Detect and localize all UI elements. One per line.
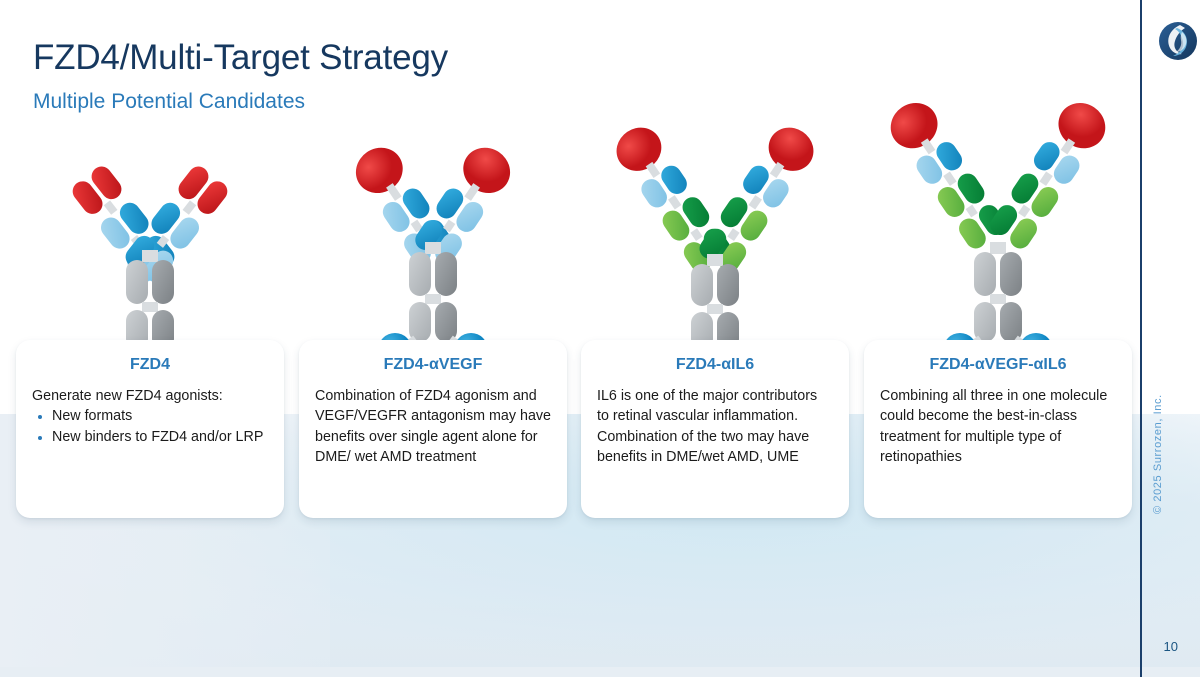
candidate-card-row: FZD4 Generate new FZD4 agonists: New for… bbox=[0, 340, 1140, 520]
background-bottom-edge bbox=[0, 667, 1200, 677]
card-paragraph: IL6 is one of the major contributors to … bbox=[597, 386, 833, 467]
card-title: FZD4-αIL6 bbox=[597, 356, 833, 374]
antibody-fzd4-ail6-figure bbox=[581, 100, 849, 350]
antibody-fzd4-avegf-ail6-figure bbox=[864, 100, 1132, 350]
card-body: Combination of FZD4 agonism and VEGF/VEG… bbox=[315, 386, 551, 467]
list-item: New formats bbox=[32, 406, 268, 427]
antibody-fzd4-avegf-figure bbox=[299, 100, 567, 350]
page-number: 10 bbox=[1164, 639, 1178, 654]
page-title: FZD4/Multi-Target Strategy bbox=[33, 38, 448, 78]
card-paragraph: Combining all three in one molecule coul… bbox=[880, 386, 1116, 467]
card-body: Combining all three in one molecule coul… bbox=[880, 386, 1116, 467]
list-item: New binders to FZD4 and/or LRP bbox=[32, 427, 268, 448]
antibody-fzd4-figure bbox=[16, 100, 284, 350]
card-paragraph: Combination of FZD4 agonism and VEGF/VEG… bbox=[315, 386, 551, 467]
copyright-text: © 2025 Surrozen, Inc. bbox=[1152, 354, 1164, 514]
card-fzd4-ail6[interactable]: FZD4-αIL6 IL6 is one of the major contri… bbox=[581, 340, 849, 518]
card-title: FZD4-αVEGF-αIL6 bbox=[880, 356, 1116, 374]
card-fzd4[interactable]: FZD4 Generate new FZD4 agonists: New for… bbox=[16, 340, 284, 518]
card-fzd4-avegf-ail6[interactable]: FZD4-αVEGF-αIL6 Combining all three in o… bbox=[864, 340, 1132, 518]
card-body: IL6 is one of the major contributors to … bbox=[597, 386, 833, 467]
antibody-figure-row bbox=[0, 100, 1140, 350]
card-title: FZD4-αVEGF bbox=[315, 356, 551, 374]
surrozen-logo-icon bbox=[1156, 18, 1200, 64]
right-rail-divider bbox=[1140, 0, 1142, 677]
card-bullet-list: New formats New binders to FZD4 and/or L… bbox=[32, 406, 268, 447]
card-title: FZD4 bbox=[32, 356, 268, 374]
card-intro: Generate new FZD4 agonists: bbox=[32, 386, 268, 406]
slide-root: FZD4/Multi-Target Strategy Multiple Pote… bbox=[0, 0, 1200, 677]
card-body: Generate new FZD4 agonists: New formats … bbox=[32, 386, 268, 448]
card-fzd4-avegf[interactable]: FZD4-αVEGF Combination of FZD4 agonism a… bbox=[299, 340, 567, 518]
